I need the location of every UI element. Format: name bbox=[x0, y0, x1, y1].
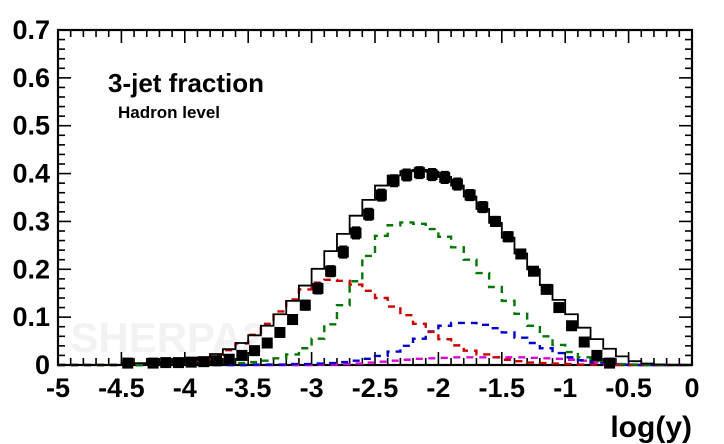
x-tick-label-7: -1.5 bbox=[479, 373, 526, 403]
chart-figure: SHERPA2-5-4.5-4-3.5-3-2.5-2-1.5-1-0.5000… bbox=[0, 0, 724, 444]
data-marker bbox=[579, 337, 590, 348]
data-marker bbox=[427, 169, 438, 180]
watermark-text: SHERPA2 bbox=[70, 314, 265, 361]
data-marker bbox=[566, 320, 577, 331]
y-tick-label-7: 0.7 bbox=[12, 15, 50, 45]
data-marker bbox=[350, 227, 361, 238]
plot-canvas: SHERPA2-5-4.5-4-3.5-3-2.5-2-1.5-1-0.5000… bbox=[0, 0, 724, 444]
x-tick-label-3: -3.5 bbox=[225, 373, 272, 403]
figure-subtitle: Hadron level bbox=[118, 103, 220, 122]
data-marker bbox=[477, 202, 488, 213]
data-marker bbox=[274, 327, 285, 338]
data-marker bbox=[325, 266, 336, 277]
data-marker bbox=[148, 358, 159, 369]
data-marker bbox=[122, 358, 133, 369]
data-marker bbox=[173, 357, 184, 368]
data-marker bbox=[300, 300, 311, 311]
y-tick-label-0: 0 bbox=[35, 350, 50, 380]
y-tick-label-5: 0.5 bbox=[12, 111, 50, 141]
data-marker bbox=[224, 354, 235, 365]
x-tick-label-10: 0 bbox=[684, 373, 699, 403]
data-marker bbox=[160, 357, 171, 368]
data-marker bbox=[389, 175, 400, 186]
x-tick-label-4: -3 bbox=[300, 373, 324, 403]
data-marker bbox=[198, 356, 209, 367]
x-tick-label-2: -4 bbox=[173, 373, 197, 403]
data-marker bbox=[363, 209, 374, 220]
x-tick-label-8: -1 bbox=[553, 373, 577, 403]
data-marker bbox=[249, 345, 260, 356]
x-tick-label-1: -4.5 bbox=[98, 373, 145, 403]
x-tick-label-9: -0.5 bbox=[605, 373, 652, 403]
data-marker bbox=[541, 284, 552, 295]
data-marker bbox=[465, 190, 476, 201]
data-marker bbox=[338, 247, 349, 258]
data-marker bbox=[452, 179, 463, 190]
data-marker bbox=[186, 357, 197, 368]
x-axis-title: log(y) bbox=[610, 411, 692, 444]
data-marker bbox=[376, 190, 387, 201]
data-marker bbox=[591, 350, 602, 361]
x-tick-label-6: -2 bbox=[426, 373, 450, 403]
data-marker bbox=[439, 172, 450, 183]
y-tick-label-2: 0.2 bbox=[12, 254, 50, 284]
data-marker bbox=[262, 337, 273, 348]
figure-title: 3-jet fraction bbox=[108, 68, 264, 98]
data-marker bbox=[553, 302, 564, 313]
data-marker bbox=[211, 355, 222, 366]
data-marker bbox=[503, 231, 514, 242]
data-marker bbox=[312, 283, 323, 294]
data-marker bbox=[287, 314, 298, 325]
data-marker bbox=[604, 358, 615, 369]
data-marker bbox=[401, 170, 412, 181]
x-tick-label-5: -2.5 bbox=[352, 373, 399, 403]
data-marker bbox=[515, 248, 526, 259]
data-marker bbox=[414, 167, 425, 178]
y-tick-label-4: 0.4 bbox=[12, 159, 50, 189]
data-marker bbox=[490, 216, 501, 227]
data-marker bbox=[528, 266, 539, 277]
y-tick-label-6: 0.6 bbox=[12, 63, 50, 93]
y-tick-label-3: 0.3 bbox=[12, 206, 50, 236]
data-marker bbox=[236, 350, 247, 361]
y-tick-label-1: 0.1 bbox=[12, 302, 50, 332]
